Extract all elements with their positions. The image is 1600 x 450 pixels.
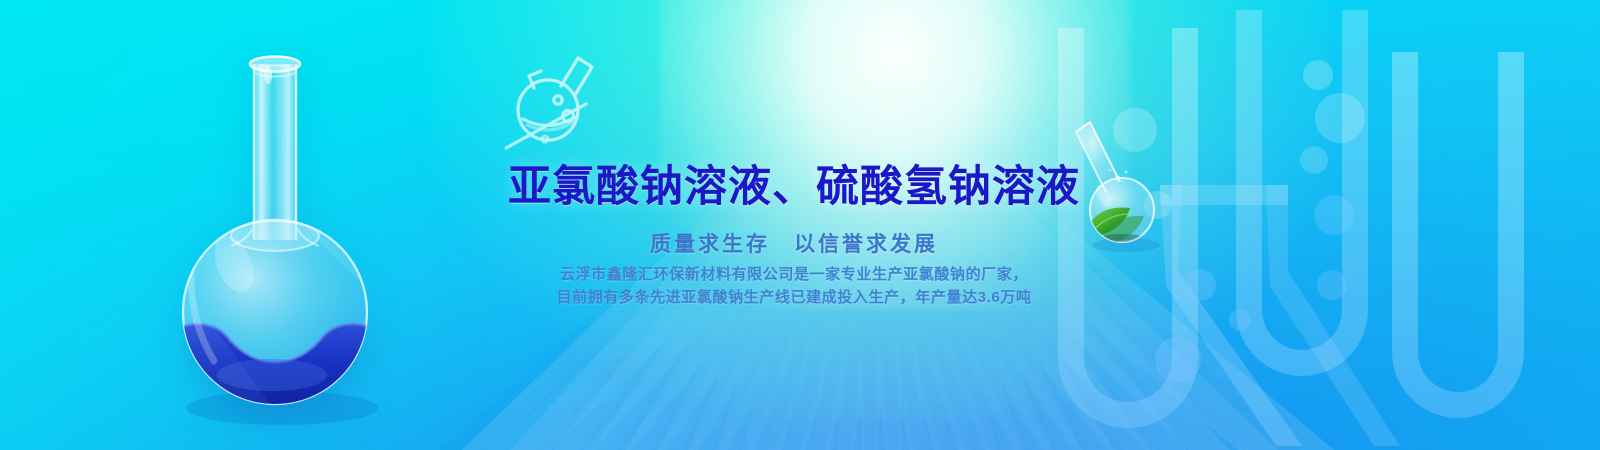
watermark-bubble bbox=[1229, 309, 1251, 331]
tilted-flask-with-leaf-image bbox=[1060, 118, 1180, 258]
watermark-bubble bbox=[1314, 195, 1354, 235]
watermark-bubble bbox=[1315, 93, 1365, 143]
promo-banner: 亚氯酸钠溶液、硫酸氢钠溶液 质量求生存 以信誉求发展 云浮市鑫隆汇环保新材料有限… bbox=[0, 0, 1600, 450]
watermark-test-tube-3 bbox=[1392, 52, 1524, 418]
watermark-bubble bbox=[1155, 337, 1201, 383]
watermark-bubble bbox=[1184, 269, 1216, 301]
round-bottom-flask-image bbox=[150, 40, 400, 440]
watermark-bubble bbox=[1303, 60, 1333, 90]
watermark-bubble bbox=[1300, 146, 1328, 174]
watermark-bubble bbox=[1317, 270, 1347, 300]
outline-flask-icon bbox=[482, 44, 608, 156]
